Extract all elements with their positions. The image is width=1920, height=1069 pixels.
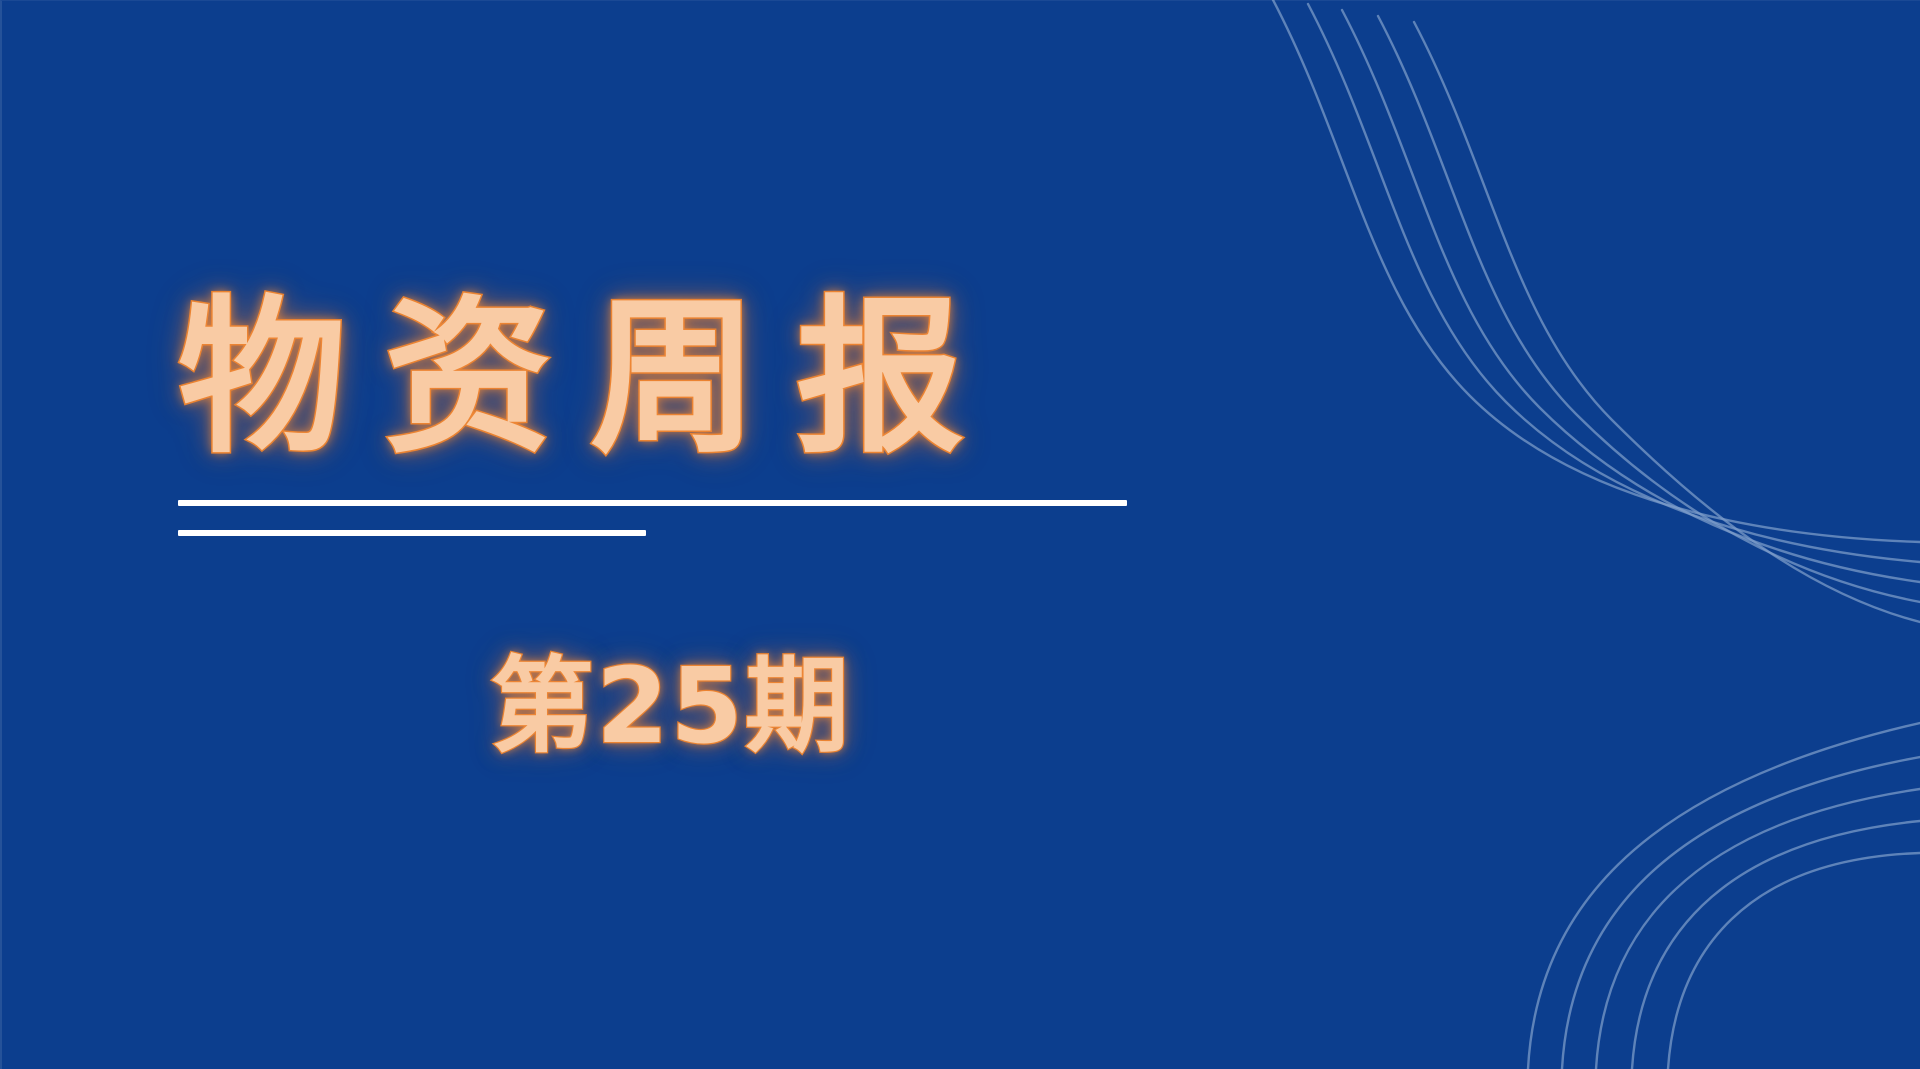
arc-line-2 — [1562, 757, 1920, 1069]
arc-line-3 — [1596, 789, 1920, 1069]
wave-line-1 — [1272, 0, 1920, 542]
arc-lines-bottom-right-decoration — [1450, 649, 1920, 1069]
title-block: 物资周报 — [178, 288, 1178, 469]
title-rule-long — [178, 500, 1127, 506]
title-slide: 物资周报 第25期 — [0, 0, 1920, 1069]
wave-line-5 — [1414, 22, 1920, 622]
wave-lines-top-right-decoration — [1220, 0, 1920, 636]
wave-line-2 — [1308, 4, 1920, 562]
wave-line-3 — [1342, 10, 1920, 582]
title-underline-rules — [178, 500, 1138, 536]
issue-number: 第25期 — [178, 648, 1163, 764]
arc-line-5 — [1668, 853, 1920, 1069]
title-rule-short — [178, 530, 646, 536]
wave-line-4 — [1378, 16, 1920, 602]
arc-line-1 — [1528, 723, 1920, 1069]
arc-line-4 — [1632, 821, 1920, 1069]
page-title: 物资周报 — [178, 288, 1178, 469]
